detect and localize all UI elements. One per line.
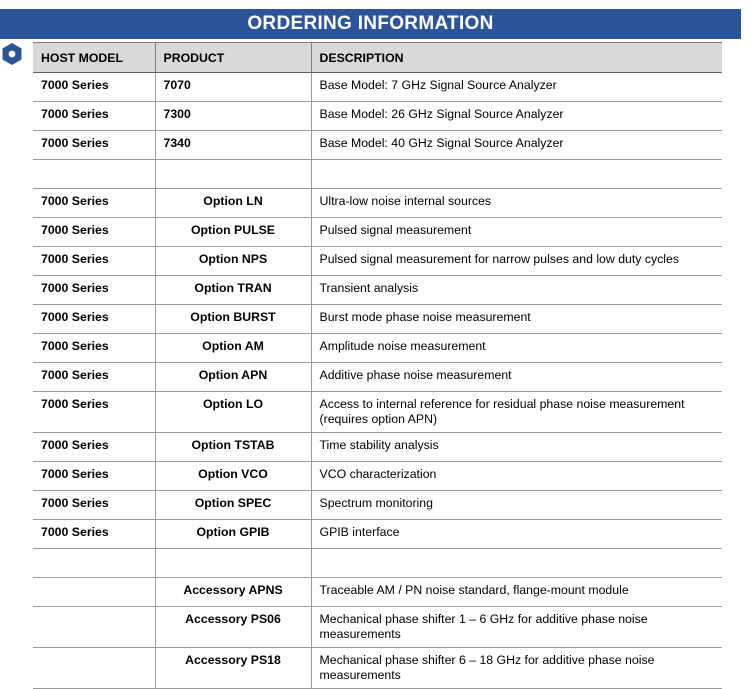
cell-product: Accessory PS18: [155, 648, 311, 689]
table-row: 7000 SeriesOption AMAmplitude noise meas…: [33, 334, 722, 363]
table-row: 7000 SeriesOption TSTABTime stability an…: [33, 433, 722, 462]
cell-host-model: 7000 Series: [33, 276, 155, 305]
spacer-cell: [33, 160, 155, 189]
cell-product: Option SPEC: [155, 491, 311, 520]
cell-product: Option TSTAB: [155, 433, 311, 462]
table-row: 7000 Series7340Base Model: 40 GHz Signal…: [33, 131, 722, 160]
column-header-description: DESCRIPTION: [311, 43, 722, 73]
table-row: 7000 SeriesOption BURSTBurst mode phase …: [33, 305, 722, 334]
spacer-cell: [311, 160, 722, 189]
cell-host-model: [33, 607, 155, 648]
cell-product: Option LN: [155, 189, 311, 218]
cell-host-model: 7000 Series: [33, 520, 155, 549]
ordering-information-banner: ORDERING INFORMATION: [0, 9, 741, 39]
table-row: Accessory PS18Mechanical phase shifter 6…: [33, 648, 722, 689]
cell-host-model: 7000 Series: [33, 305, 155, 334]
cell-product: Option AM: [155, 334, 311, 363]
cell-description: Access to internal reference for residua…: [311, 392, 722, 433]
cell-description: Ultra-low noise internal sources: [311, 189, 722, 218]
cell-product: Option BURST: [155, 305, 311, 334]
cell-host-model: 7000 Series: [33, 462, 155, 491]
cell-description: Burst mode phase noise measurement: [311, 305, 722, 334]
cell-host-model: 7000 Series: [33, 363, 155, 392]
cell-description: VCO characterization: [311, 462, 722, 491]
cell-product: Accessory APNS: [155, 578, 311, 607]
page-title: ORDERING INFORMATION: [247, 13, 493, 35]
table-row: 7000 SeriesOption PULSEPulsed signal mea…: [33, 218, 722, 247]
spacer-cell: [155, 549, 311, 578]
cell-description: Additive phase noise measurement: [311, 363, 722, 392]
cell-host-model: 7000 Series: [33, 73, 155, 102]
cell-description: Amplitude noise measurement: [311, 334, 722, 363]
cell-description: Mechanical phase shifter 6 – 18 GHz for …: [311, 648, 722, 689]
column-header-host-model: HOST MODEL: [33, 43, 155, 73]
cell-description: Traceable AM / PN noise standard, flange…: [311, 578, 722, 607]
cell-host-model: 7000 Series: [33, 247, 155, 276]
cell-host-model: 7000 Series: [33, 131, 155, 160]
cell-description: Pulsed signal measurement for narrow pul…: [311, 247, 722, 276]
hexagon-bullet-icon: [1, 42, 23, 66]
table-row: 7000 SeriesOption LOAccess to internal r…: [33, 392, 722, 433]
cell-product: Option NPS: [155, 247, 311, 276]
ordering-information-table: HOST MODEL PRODUCT DESCRIPTION 7000 Seri…: [33, 42, 722, 689]
spacer-cell: [311, 549, 722, 578]
table-header-row: HOST MODEL PRODUCT DESCRIPTION: [33, 43, 722, 73]
cell-description: Base Model: 40 GHz Signal Source Analyze…: [311, 131, 722, 160]
cell-product: 7070: [155, 73, 311, 102]
cell-description: Pulsed signal measurement: [311, 218, 722, 247]
cell-product: 7300: [155, 102, 311, 131]
cell-description: Mechanical phase shifter 1 – 6 GHz for a…: [311, 607, 722, 648]
table-row: 7000 SeriesOption LNUltra-low noise inte…: [33, 189, 722, 218]
cell-host-model: 7000 Series: [33, 218, 155, 247]
cell-description: GPIB interface: [311, 520, 722, 549]
cell-host-model: [33, 648, 155, 689]
cell-product: Option LO: [155, 392, 311, 433]
table-row: 7000 SeriesOption APNAdditive phase nois…: [33, 363, 722, 392]
table-row: 7000 Series7300Base Model: 26 GHz Signal…: [33, 102, 722, 131]
column-header-product: PRODUCT: [155, 43, 311, 73]
cell-host-model: 7000 Series: [33, 433, 155, 462]
spacer-cell: [155, 160, 311, 189]
table-body: 7000 Series7070Base Model: 7 GHz Signal …: [33, 73, 722, 689]
section-spacer-row: [33, 549, 722, 578]
table-header: HOST MODEL PRODUCT DESCRIPTION: [33, 43, 722, 73]
cell-product: Option APN: [155, 363, 311, 392]
table-row: 7000 SeriesOption SPECSpectrum monitorin…: [33, 491, 722, 520]
table-row: 7000 SeriesOption GPIBGPIB interface: [33, 520, 722, 549]
cell-product: 7340: [155, 131, 311, 160]
cell-host-model: 7000 Series: [33, 491, 155, 520]
cell-product: Option GPIB: [155, 520, 311, 549]
section-spacer-row: [33, 160, 722, 189]
spacer-cell: [33, 549, 155, 578]
table-row: 7000 SeriesOption VCOVCO characterizatio…: [33, 462, 722, 491]
cell-description: Time stability analysis: [311, 433, 722, 462]
cell-product: Option PULSE: [155, 218, 311, 247]
cell-description: Spectrum monitoring: [311, 491, 722, 520]
cell-product: Option VCO: [155, 462, 311, 491]
cell-product: Option TRAN: [155, 276, 311, 305]
cell-description: Base Model: 26 GHz Signal Source Analyze…: [311, 102, 722, 131]
cell-description: Transient analysis: [311, 276, 722, 305]
cell-description: Base Model: 7 GHz Signal Source Analyzer: [311, 73, 722, 102]
table-row: 7000 Series7070Base Model: 7 GHz Signal …: [33, 73, 722, 102]
cell-host-model: 7000 Series: [33, 392, 155, 433]
cell-host-model: 7000 Series: [33, 102, 155, 131]
cell-product: Accessory PS06: [155, 607, 311, 648]
cell-host-model: 7000 Series: [33, 334, 155, 363]
cell-host-model: [33, 578, 155, 607]
table-row: 7000 SeriesOption NPSPulsed signal measu…: [33, 247, 722, 276]
table-row: Accessory PS06Mechanical phase shifter 1…: [33, 607, 722, 648]
cell-host-model: 7000 Series: [33, 189, 155, 218]
table-row: 7000 SeriesOption TRANTransient analysis: [33, 276, 722, 305]
table-row: Accessory APNSTraceable AM / PN noise st…: [33, 578, 722, 607]
